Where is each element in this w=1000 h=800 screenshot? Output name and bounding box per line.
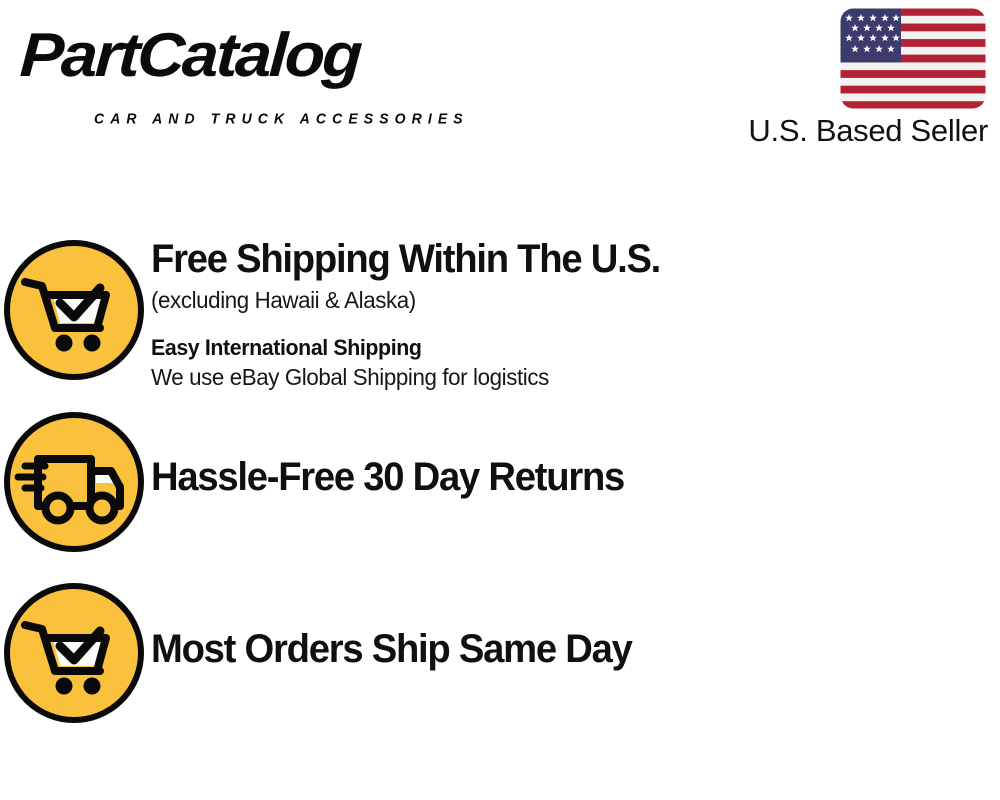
feature-text-wrap: Most Orders Ship Same Day <box>148 580 1000 672</box>
feature-row-free-shipping: Free Shipping Within The U.S. (excluding… <box>0 232 1000 408</box>
feature-headline: Free Shipping Within The U.S. <box>151 236 962 282</box>
us-based-seller-label: U.S. Based Seller <box>716 114 988 148</box>
feature-sub-heading: Easy International Shipping <box>151 333 975 362</box>
feature-subline: (excluding Hawaii & Alaska) <box>151 285 975 315</box>
brand-wordmark: PartCatalog <box>18 24 520 88</box>
feature-headline: Most Orders Ship Same Day <box>151 626 962 672</box>
feature-row-returns: Hassle-Free 30 Day Returns <box>0 408 1000 580</box>
feature-text-wrap: Hassle-Free 30 Day Returns <box>148 408 1000 500</box>
feature-icon-wrap <box>0 580 148 726</box>
feature-sub-detail: We use eBay Global Shipping for logistic… <box>151 362 975 392</box>
feature-headline: Hassle-Free 30 Day Returns <box>151 454 962 500</box>
shopping-cart-check-icon <box>1 580 147 726</box>
brand-logo[interactable]: PartCatalog CAR AND TRUCK ACCESSORIES <box>22 24 492 116</box>
feature-list: Free Shipping Within The U.S. (excluding… <box>0 232 1000 750</box>
feature-text-wrap: Free Shipping Within The U.S. (excluding… <box>148 232 1000 392</box>
brand-tagline: CAR AND TRUCK ACCESSORIES <box>94 110 469 127</box>
feature-icon-wrap <box>0 408 148 555</box>
us-flag-icon <box>840 8 986 109</box>
feature-icon-wrap <box>0 232 148 383</box>
page-header: PartCatalog CAR AND TRUCK ACCESSORIES <box>0 0 1000 175</box>
feature-row-same-day-shipping: Most Orders Ship Same Day <box>0 580 1000 750</box>
shopping-cart-check-icon <box>1 237 147 383</box>
delivery-truck-icon <box>1 409 147 555</box>
us-based-seller-badge: U.S. Based Seller <box>716 8 988 148</box>
